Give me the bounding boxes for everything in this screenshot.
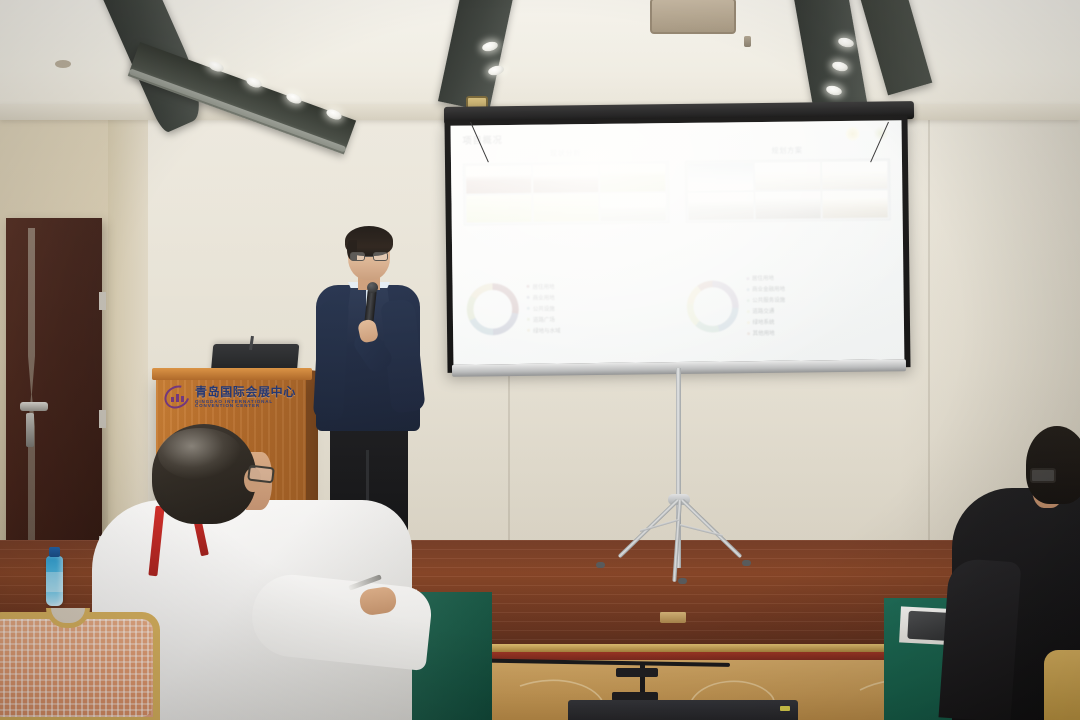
legend-label: 商业用地 [533, 293, 555, 301]
presenter-arm-left [313, 299, 349, 420]
door-hinge [99, 410, 106, 428]
legend-label: 绿地系统 [752, 318, 774, 326]
legend-color-swatch [527, 329, 530, 332]
legend-label: 其他用地 [753, 329, 775, 337]
smoke-detector-icon [55, 60, 71, 68]
legend-color-swatch [527, 296, 530, 299]
audience-right-arm [939, 558, 1022, 720]
legend-label: 居住用地 [752, 274, 774, 282]
slide-panel-left: 现状分析 [463, 147, 669, 226]
slide-panel-right: 规划方案 [684, 144, 890, 223]
cable-cover [616, 668, 658, 677]
podium-nameplate: 青岛国际会展中心 QINGDAO INTERNATIONAL CONVENTIO… [160, 380, 302, 414]
podium-name-en: QINGDAO INTERNATIONAL CONVENTION CENTER [195, 400, 302, 409]
floor-equipment-box [568, 700, 798, 720]
legend-item: 商业金融用地 [746, 285, 785, 293]
glasses-icon [247, 464, 275, 483]
slide-thumbnail [600, 164, 665, 192]
legend-item: 绿地与水域 [527, 326, 561, 334]
legend-label: 道路广场 [533, 315, 555, 323]
banquet-chair-right[interactable] [1044, 650, 1080, 720]
legend-color-swatch [746, 277, 749, 280]
slide-thumbnail [534, 194, 599, 222]
donut-chart-legend: 居住用地商业用地公共设施道路广场绿地与水域 [526, 282, 560, 334]
slide-thumbnail [822, 161, 887, 189]
legend-color-swatch [746, 310, 749, 313]
legend-item: 公共服务设施 [746, 296, 785, 304]
slide-thumbnail [688, 163, 753, 191]
legend-item: 商业用地 [527, 293, 561, 301]
audience-right-head [1026, 426, 1080, 504]
presentation-slide: 项目概况 现状分析 [451, 120, 905, 364]
water-bottle [46, 556, 63, 606]
legend-color-swatch [526, 285, 529, 288]
slide-thumbnail [466, 166, 531, 194]
chart-block-left: 居住用地商业用地公共设施道路广场绿地与水域 [466, 275, 670, 340]
sprinkler-icon [744, 36, 751, 47]
slide-thumbnail [533, 165, 598, 193]
panel-heading: 规划方案 [684, 144, 890, 157]
slide-thumbnail [822, 190, 887, 218]
slide-panels: 现状分析 规划方案 [463, 144, 891, 225]
legend-label: 公共服务设施 [752, 296, 785, 304]
audience-left-grey-hair [158, 428, 242, 480]
projection-screen-surface: 项目概况 现状分析 [451, 120, 905, 364]
slide-thumbnail [688, 192, 753, 220]
legend-color-swatch [746, 299, 749, 302]
legend-item: 绿地系统 [746, 318, 785, 326]
glasses-icon [1030, 468, 1056, 483]
floor-equipment-indicator [780, 706, 790, 711]
legend-item: 道路广场 [527, 315, 561, 323]
sun-icon [846, 127, 860, 141]
legend-color-swatch [746, 321, 749, 324]
legend-label: 道路交通 [752, 307, 774, 315]
slide-title: 项目概况 [463, 128, 890, 146]
chart-block-right: 居住用地商业金融用地公共服务设施道路交通绿地系统其他用地 [686, 272, 890, 337]
slide-thumbnail [466, 195, 531, 223]
thumbnail-grid [684, 158, 890, 223]
door-hinge [99, 292, 106, 310]
slide-thumbnail [755, 162, 820, 190]
glasses-icon [350, 252, 388, 261]
legend-label: 商业金融用地 [752, 285, 785, 293]
projection-screen: 项目概况 现状分析 [444, 115, 910, 373]
legend-color-swatch [747, 332, 750, 335]
bottle-label [46, 572, 63, 592]
podium-top-surface [152, 368, 312, 380]
slide-thumbnail [601, 193, 666, 221]
slide-charts: 居住用地商业用地公共设施道路广场绿地与水域 居住用地商业金融用地公共服务设施道路… [466, 272, 890, 340]
legend-color-swatch [746, 288, 749, 291]
wood-block-prop [660, 612, 686, 623]
screen-tripod-foot [678, 578, 687, 584]
legend-item: 公共设施 [527, 304, 561, 312]
screen-tripod-foot [596, 562, 605, 568]
thumbnail-grid [463, 161, 669, 226]
conference-room-photo: 项目概况 现状分析 [0, 0, 1080, 720]
legend-item: 其他用地 [747, 329, 786, 337]
door-handle-shaft [26, 413, 34, 447]
podium-name-cn: 青岛国际会展中心 [195, 386, 302, 398]
door[interactable] [6, 218, 102, 568]
legend-color-swatch [527, 307, 530, 310]
screen-tripod-foot [742, 560, 751, 566]
door-handle-icon[interactable] [20, 402, 48, 411]
donut-chart-legend: 居住用地商业金融用地公共服务设施道路交通绿地系统其他用地 [746, 274, 786, 337]
slide-thumbnail [755, 191, 820, 219]
ceiling-vent [650, 0, 736, 34]
legend-item: 道路交通 [746, 307, 785, 315]
legend-label: 居住用地 [532, 282, 554, 290]
donut-chart-current-land-use [466, 282, 519, 335]
legend-item: 居住用地 [526, 282, 560, 290]
legend-label: 公共设施 [533, 304, 555, 312]
donut-chart-planned-land-use [686, 280, 739, 333]
door-inlay [28, 228, 35, 548]
legend-color-swatch [527, 318, 530, 321]
convention-center-logo-icon [164, 386, 190, 408]
legend-item: 居住用地 [746, 274, 785, 282]
banquet-chair-left[interactable] [0, 612, 160, 720]
panel-heading: 现状分析 [463, 147, 669, 160]
legend-label: 绿地与水域 [533, 326, 561, 334]
